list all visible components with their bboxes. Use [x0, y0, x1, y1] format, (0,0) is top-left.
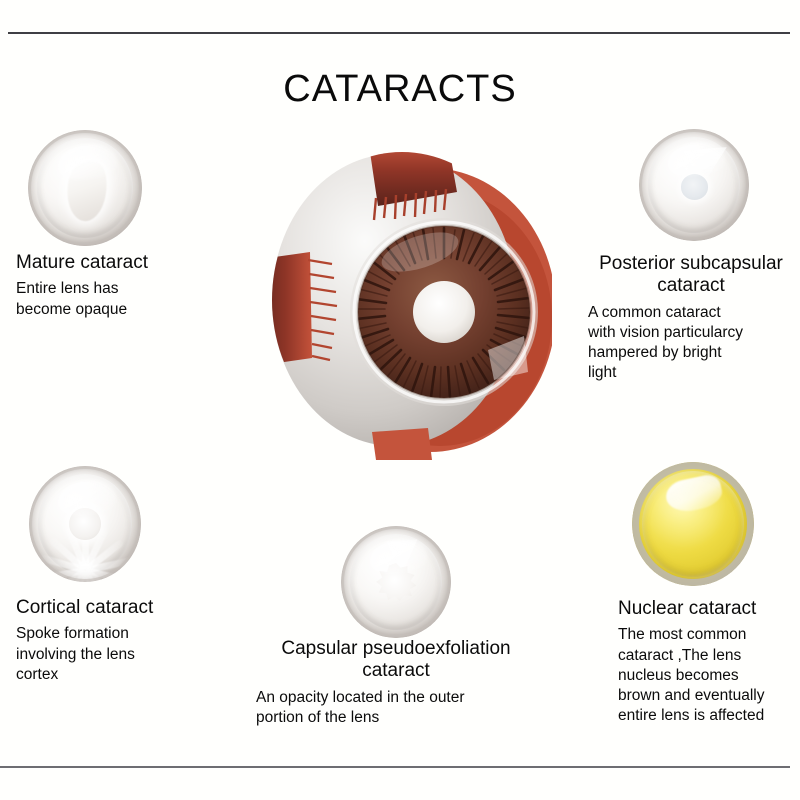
nuclear-cataract-body: The most common cataract ,The lens nucle… [618, 625, 798, 726]
lens-rim-shading [632, 462, 754, 586]
lens-rim-shading [341, 526, 451, 638]
capsular-pseudoexfoliation-cataract-body: An opacity located in the outer portion … [256, 688, 536, 728]
mature-cataract-heading: Mature cataract [16, 252, 226, 274]
lens-rim-shading [28, 130, 142, 246]
lens-rim-shading [639, 129, 749, 241]
panel-capsular-pseudoexfoliation-cataract: Capsular pseudoexfoliation cataract An o… [256, 638, 536, 728]
page-title: CATARACTS [0, 68, 800, 111]
top-divider-rule [8, 32, 790, 34]
posterior-subcapsular-cataract-body: A common cataract with vision particular… [588, 303, 794, 384]
panel-cortical-cataract: Cortical cataract Spoke formation involv… [16, 597, 226, 685]
capsular-pseudoexfoliation-cataract-heading: Capsular pseudoexfoliation cataract [256, 638, 536, 683]
capsular-pseudoexfoliation-cataract-lens [341, 526, 451, 638]
inferior-rectus-muscle [372, 428, 432, 460]
panel-posterior-subcapsular-cataract: Posterior subcapsular cataract A common … [588, 253, 794, 383]
mature-cataract-lens [28, 130, 142, 246]
posterior-subcapsular-cataract-heading: Posterior subcapsular cataract [588, 253, 794, 298]
nuclear-cataract-heading: Nuclear cataract [618, 598, 798, 620]
nuclear-cataract-lens [632, 462, 754, 586]
posterior-subcapsular-cataract-lens [639, 129, 749, 241]
panel-mature-cataract: Mature cataract Entire lens has become o… [16, 252, 226, 320]
cornea-iris-assembly [350, 218, 538, 406]
cataracts-infographic: CATARACTS [0, 0, 800, 800]
cortical-cataract-lens [29, 466, 141, 582]
panel-nuclear-cataract: Nuclear cataract The most common catarac… [618, 598, 798, 726]
bottom-divider-rule [0, 766, 790, 768]
pupil-lens [413, 281, 475, 343]
cortical-cataract-body: Spoke formation involving the lens corte… [16, 624, 226, 684]
eye-model-figure [252, 140, 552, 460]
mature-cataract-body: Entire lens has become opaque [16, 279, 226, 319]
lens-rim-shading [29, 466, 141, 582]
cortical-cataract-heading: Cortical cataract [16, 597, 226, 619]
